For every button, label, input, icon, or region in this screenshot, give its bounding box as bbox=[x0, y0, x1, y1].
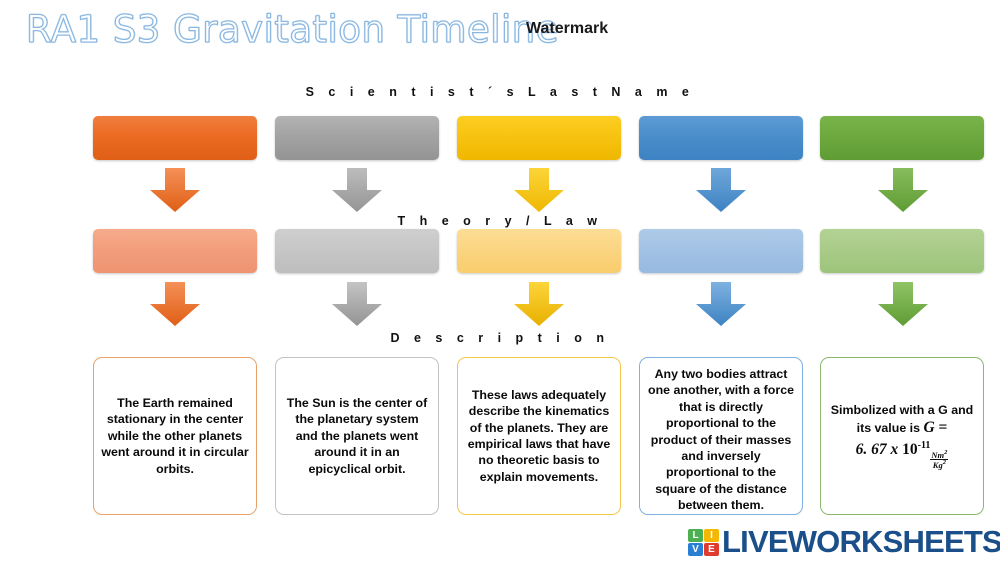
theory-law-box-1[interactable] bbox=[93, 229, 257, 273]
scientist-name-box-3[interactable] bbox=[457, 116, 621, 160]
logo-block-v: V bbox=[688, 543, 703, 556]
scientist-name-box-1[interactable] bbox=[93, 116, 257, 160]
theory-law-box-2[interactable] bbox=[275, 229, 439, 273]
logo-block-e: E bbox=[704, 543, 719, 556]
exponent: -11 bbox=[918, 440, 931, 451]
scientist-name-box-4[interactable] bbox=[639, 116, 803, 160]
scientist-name-box-2[interactable] bbox=[275, 116, 439, 160]
description-card-5: Simbolized with a G and its value is G =… bbox=[820, 357, 984, 515]
unit-fraction: Nm2Kg2 bbox=[930, 450, 948, 471]
logo-block-i: I bbox=[704, 529, 719, 542]
watermark-label: Watermark bbox=[526, 20, 608, 38]
scientist-name-box-5[interactable] bbox=[820, 116, 984, 160]
description-text-5: Simbolized with a G and its value is G =… bbox=[828, 402, 976, 470]
gravitational-constant-symbol: G = bbox=[923, 418, 947, 438]
description-text-2: The Sun is the center of the planetary s… bbox=[283, 395, 431, 477]
description-text-4: Any two bodies attract one another, with… bbox=[647, 366, 795, 513]
liveworksheets-logo-blocks: L I V E bbox=[688, 529, 719, 556]
logo-block-l: L bbox=[688, 529, 703, 542]
down-arrow-icon-3b bbox=[512, 282, 566, 327]
down-arrow-icon-5a bbox=[876, 168, 930, 213]
theory-law-box-4[interactable] bbox=[639, 229, 803, 273]
description-card-1: The Earth remained stationary in the cen… bbox=[93, 357, 257, 515]
description-text-3: These laws adequately describe the kinem… bbox=[465, 387, 613, 485]
down-arrow-icon-2a bbox=[330, 168, 384, 213]
description-text-1: The Earth remained stationary in the cen… bbox=[101, 395, 249, 477]
down-arrow-icon-4a bbox=[694, 168, 748, 213]
row-heading-scientist-last-name: S c i e n t i s t ´ s L a s t N a m e bbox=[0, 85, 1000, 99]
row-heading-description: D e s c r i p t i o n bbox=[0, 331, 1000, 345]
page-title: RA1 S3 Gravitation Timeline bbox=[26, 8, 559, 51]
down-arrow-icon-3a bbox=[512, 168, 566, 213]
theory-law-box-5[interactable] bbox=[820, 229, 984, 273]
liveworksheets-logo: L I V E LIVEWORKSHEETS bbox=[688, 524, 1000, 560]
description-card-3: These laws adequately describe the kinem… bbox=[457, 357, 621, 515]
down-arrow-icon-4b bbox=[694, 282, 748, 327]
description-card-4: Any two bodies attract one another, with… bbox=[639, 357, 803, 515]
down-arrow-icon-2b bbox=[330, 282, 384, 327]
liveworksheets-wordmark: LIVEWORKSHEETS bbox=[722, 524, 1000, 560]
description-card-2: The Sun is the center of the planetary s… bbox=[275, 357, 439, 515]
description-text-5-prefix: Simbolized with a G and its value is bbox=[831, 403, 974, 435]
down-arrow-icon-5b bbox=[876, 282, 930, 327]
down-arrow-icon-1a bbox=[148, 168, 202, 213]
row-heading-theory-law: T h e o r y / L a w bbox=[0, 214, 1000, 228]
theory-law-box-3[interactable] bbox=[457, 229, 621, 273]
down-arrow-icon-1b bbox=[148, 282, 202, 327]
gravitational-constant-value: 6. 67 x 10-11Nm2Kg2 bbox=[856, 439, 949, 471]
